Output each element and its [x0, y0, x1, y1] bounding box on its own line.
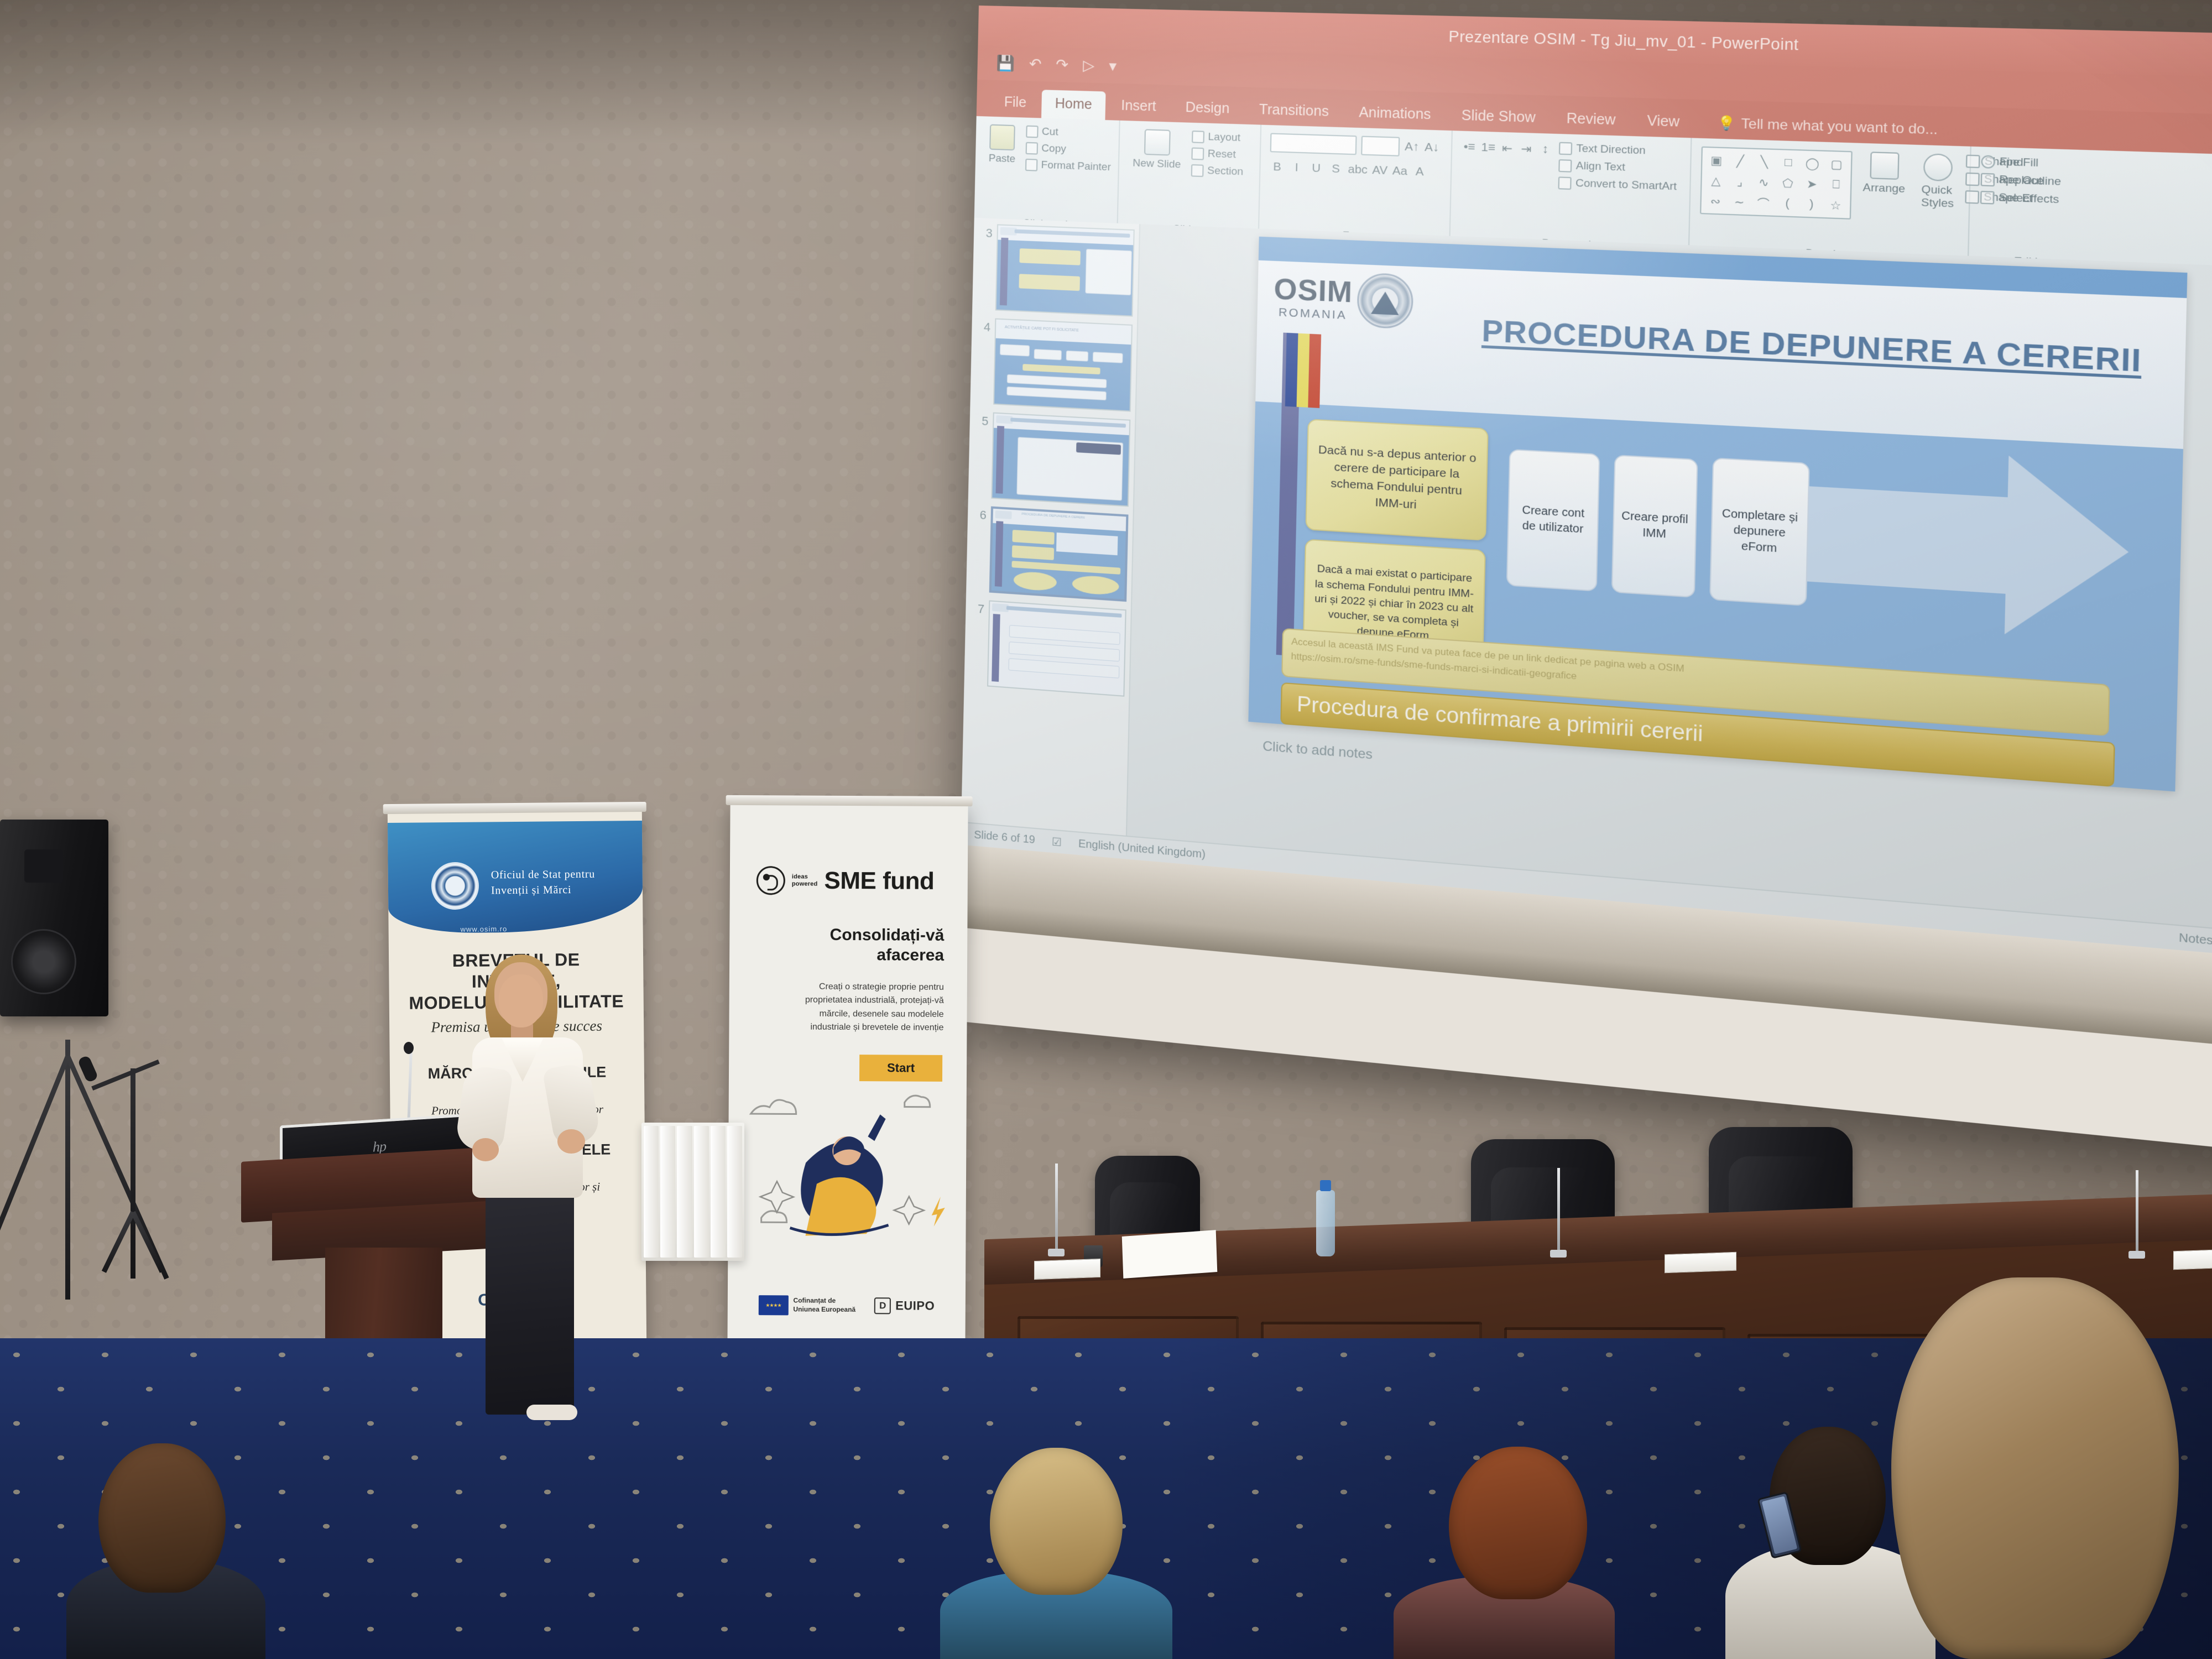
copy-button[interactable]: Copy: [1025, 142, 1112, 157]
eu-flag-icon: ★★★★: [758, 1295, 788, 1315]
presenter-left-hand: [472, 1138, 499, 1161]
microphone-boom-stand: [77, 1068, 216, 1328]
replace-icon: [1981, 173, 1995, 187]
osim-logo-text: OSIM: [1274, 274, 1353, 307]
powerpoint-window: Prezentare OSIM - Tg Jiu_mv_01 - PowerPo…: [961, 6, 2212, 961]
rectangle-shape-icon[interactable]: □: [1777, 154, 1799, 172]
paste-icon: [989, 124, 1015, 151]
ideas-word-line1: ideas: [792, 874, 818, 881]
step-box-3: Completare și depunere eForm: [1709, 457, 1810, 606]
rollup-top-rail: [383, 802, 646, 814]
panel-name-card-1: [1034, 1259, 1100, 1280]
select-label: Select: [1999, 191, 2032, 206]
paste-button[interactable]: Paste: [984, 124, 1021, 165]
panel-paper-1: [1122, 1230, 1218, 1279]
thumbnail-number: 6: [972, 505, 987, 523]
strikethrough-button[interactable]: abc: [1348, 161, 1368, 178]
osim-org-line1: Oficiul de Stat pentru: [491, 867, 595, 883]
slide-thumbnail-3[interactable]: [995, 224, 1135, 316]
change-case-button[interactable]: Aa: [1392, 163, 1407, 180]
notes-toggle[interactable]: Notes: [2179, 931, 2212, 948]
sme-fund-wordmark: SME fund: [824, 867, 934, 895]
sme-logo-row: ideas powered SME fund: [757, 866, 935, 896]
align-text-label: Align Text: [1576, 160, 1626, 174]
banner-shape-icon[interactable]: ⎕: [1825, 176, 1847, 194]
layout-label: Layout: [1208, 131, 1240, 144]
paste-label: Paste: [989, 153, 1016, 166]
layout-icon: [1192, 131, 1204, 143]
tab-view[interactable]: View: [1632, 107, 1695, 138]
slide-thumbnail-4[interactable]: ACTIVITĂȚILE CARE POT FI SOLICITATE: [993, 318, 1133, 411]
new-slide-icon: [1144, 129, 1171, 155]
eu-cofinance-line2: Uniunea Europeană: [793, 1305, 855, 1314]
thumbnail-number: 5: [974, 411, 988, 429]
speaker-woofer: [11, 929, 76, 994]
slide-thumbnail-5[interactable]: [991, 413, 1130, 507]
select-button[interactable]: Select: [1980, 191, 2043, 206]
shapes-gallery[interactable]: ▣ ╱ ╲ □ ◯ ▢ △ ⌟ ∿ ⬠ ➤ ⎕: [1700, 147, 1853, 220]
line-shape-icon[interactable]: ╱: [1730, 152, 1751, 170]
projection-surface: Prezentare OSIM - Tg Jiu_mv_01 - PowerPo…: [961, 6, 2212, 961]
audience-head-2: [990, 1448, 1123, 1595]
thumbnail-number: 7: [970, 599, 984, 617]
ideas-powered-for-business-icon: [757, 866, 785, 895]
panel-name-card-2: [1665, 1252, 1736, 1274]
speaker-tweeter: [24, 849, 63, 883]
section-button[interactable]: Section: [1191, 164, 1243, 179]
wall-radiator: [641, 1123, 744, 1261]
desk-microphone-1: [1055, 1164, 1058, 1252]
character-spacing-button[interactable]: AV: [1372, 163, 1387, 179]
cursor-icon: [1980, 191, 1995, 205]
step-text-1: Creare cont de utilizator: [1514, 502, 1593, 538]
thumbnail-row[interactable]: 3: [977, 223, 1135, 317]
cut-label: Cut: [1042, 126, 1058, 139]
tab-file[interactable]: File: [990, 88, 1040, 118]
eu-cofinance-line1: Cofinanțat de: [793, 1297, 855, 1306]
presenter-shoe: [526, 1405, 577, 1420]
text-direction-label: Text Direction: [1576, 143, 1646, 158]
elbow-shape-icon[interactable]: ⌟: [1729, 173, 1750, 191]
sme-hero-illustration: [728, 1070, 967, 1253]
euipo-wordmark: EUIPO: [895, 1298, 935, 1313]
star-shape-icon[interactable]: ☆: [1825, 196, 1846, 215]
arrow-shape-icon[interactable]: ╲: [1754, 153, 1775, 171]
current-slide[interactable]: OSIM ROMANIA PROCEDURA DE DEPUNERE A CER…: [1248, 237, 2187, 792]
section-label: Section: [1207, 165, 1244, 179]
redo-icon[interactable]: ↷: [1056, 56, 1068, 74]
replace-button[interactable]: Replace: [1981, 173, 2044, 188]
reset-button[interactable]: Reset: [1191, 148, 1244, 162]
paintbrush-icon: [1025, 159, 1037, 171]
triangle-shape-icon[interactable]: △: [1705, 171, 1726, 190]
slide-counter: Slide 6 of 19: [974, 828, 1035, 846]
osim-seal-icon: [1357, 272, 1413, 329]
align-text-icon: [1558, 159, 1572, 173]
window-title: Prezentare OSIM - Tg Jiu_mv_01 - PowerPo…: [1448, 28, 1799, 54]
osim-logo-country: ROMANIA: [1279, 306, 1347, 321]
conference-room-scene: Prezentare OSIM - Tg Jiu_mv_01 - PowerPo…: [0, 0, 2212, 1659]
replace-label: Replace: [1999, 174, 2044, 188]
tab-home[interactable]: Home: [1041, 90, 1105, 120]
quick-styles-label: Quick Styles: [1921, 184, 1954, 211]
slide-thumbnail-pane[interactable]: 3: [961, 218, 1140, 859]
customize-icon[interactable]: ▾: [1109, 58, 1117, 75]
process-arrow-icon: [1797, 445, 2131, 648]
arrange-button[interactable]: Arrange: [1858, 152, 1911, 196]
increase-indent-button[interactable]: ⇥: [1519, 140, 1535, 157]
lightbulb-icon: 💡: [1717, 114, 1736, 132]
pa-speaker: [0, 820, 108, 1016]
slide-thumbnail-7[interactable]: [987, 600, 1126, 696]
reset-label: Reset: [1208, 148, 1236, 161]
osim-website: www.osim.ro: [461, 925, 508, 933]
font-family-select[interactable]: [1270, 133, 1357, 155]
rollup-top-rail: [726, 795, 973, 806]
step-text-3: Completare și depunere eForm: [1717, 505, 1802, 558]
arc-shape-icon[interactable]: ⌒: [1752, 194, 1774, 212]
tab-design[interactable]: Design: [1172, 93, 1244, 124]
undo-icon[interactable]: ↶: [1029, 55, 1041, 73]
new-slide-label: New Slide: [1133, 157, 1181, 171]
thumbnail-number: 3: [978, 223, 993, 241]
sme-headline: Consolidați-vă afacerea: [801, 925, 944, 966]
find-label: Find: [2000, 156, 2023, 170]
water-bottle: [1316, 1190, 1335, 1256]
section-icon: [1191, 164, 1203, 177]
format-painter-button[interactable]: Format Painter: [1025, 159, 1112, 174]
projection-screen: Prezentare OSIM - Tg Jiu_mv_01 - PowerPo…: [957, 6, 2212, 1156]
romania-flag: [1285, 333, 1321, 408]
text-direction-icon: [1559, 142, 1572, 155]
podium-microphone-icon: [404, 1042, 414, 1054]
chevron-shape-icon[interactable]: ➤: [1801, 175, 1823, 193]
bullets-button[interactable]: •≡: [1462, 139, 1477, 155]
thumbnail-row[interactable]: 5: [973, 411, 1131, 507]
align-text-button[interactable]: Align Text: [1558, 159, 1677, 176]
quick-styles-button[interactable]: Quick Styles: [1916, 153, 1960, 211]
spellcheck-icon[interactable]: ☑: [1052, 834, 1062, 849]
sme-fund-rollup-banner: ideas powered SME fund Consolidați-vă af…: [727, 804, 968, 1347]
italic-button[interactable]: I: [1289, 160, 1305, 176]
desk-mic-base-3: [2128, 1251, 2145, 1259]
convert-smartart-button[interactable]: Convert to SmartArt: [1558, 176, 1677, 193]
tab-insert[interactable]: Insert: [1107, 92, 1170, 122]
pentagon-shape-icon[interactable]: ⬠: [1777, 174, 1799, 192]
font-size-select[interactable]: [1361, 136, 1400, 156]
tab-slide-show[interactable]: Slide Show: [1447, 101, 1550, 133]
reset-icon: [1191, 148, 1204, 160]
tab-animations[interactable]: Animations: [1345, 98, 1446, 131]
font-color-button[interactable]: A: [1412, 164, 1427, 180]
find-button[interactable]: Find: [1981, 155, 2044, 170]
step-box-1: Creare cont de utilizator: [1506, 449, 1600, 592]
audience-head-1: [98, 1443, 226, 1593]
callout-box-1: Dacă nu s-a depus anterior o cerere de p…: [1305, 419, 1488, 541]
sme-body-text: Creați o strategie proprie pentru propri…: [789, 980, 944, 1035]
sme-banner-footer: ★★★★ Cofinanțat de Uniunea Europeană D E…: [728, 1295, 966, 1316]
desk-mic-base-1: [1048, 1249, 1065, 1256]
bold-button[interactable]: B: [1270, 159, 1285, 175]
presenter-trousers: [486, 1187, 574, 1415]
osim-banner-header: Oficiul de Stat pentru Invenții și Mărci…: [388, 821, 643, 933]
presenter-face: [499, 974, 543, 1027]
search-icon: [1981, 155, 1995, 168]
rounded-rect-shape-icon[interactable]: ▢: [1826, 155, 1848, 173]
step-box-2: Creare profil IMM: [1611, 455, 1698, 598]
thumbnail-row[interactable]: 4 ACTIVITĂȚILE CARE POT FI SOLICITATE: [974, 317, 1133, 412]
smartart-icon: [1558, 176, 1571, 190]
ribbon-group-editing: Find Replace Select: [1969, 147, 2099, 275]
scissors-icon: [1026, 126, 1038, 138]
increase-font-size-button[interactable]: A↑: [1404, 139, 1420, 155]
thumbnail-row[interactable]: 7: [968, 599, 1126, 697]
convert-smartart-label: Convert to SmartArt: [1575, 177, 1677, 193]
copy-label: Copy: [1041, 143, 1066, 156]
underline-button[interactable]: U: [1308, 160, 1324, 177]
presenter-right-hand: [557, 1129, 585, 1154]
format-painter-label: Format Painter: [1041, 159, 1111, 174]
brace-left-icon[interactable]: (: [1777, 195, 1798, 213]
audience-head-3: [1449, 1447, 1587, 1599]
step-text-2: Creare profil IMM: [1619, 508, 1691, 544]
text-direction-button[interactable]: Text Direction: [1559, 142, 1678, 159]
present-icon[interactable]: ▷: [1083, 56, 1095, 74]
osim-org-line2: Invenții și Mărci: [491, 882, 595, 899]
shadow-button[interactable]: S: [1328, 161, 1344, 178]
decrease-indent-button[interactable]: ⇤: [1499, 140, 1515, 156]
ideas-word-line2: powered: [792, 880, 818, 888]
scribble-shape-icon[interactable]: ∼: [1729, 193, 1750, 211]
arrange-icon: [1870, 152, 1899, 180]
notes-placeholder: Click to add notes: [1262, 739, 1373, 763]
desk-microphone-3: [2136, 1170, 2138, 1253]
oval-shape-icon[interactable]: ◯: [1802, 154, 1823, 173]
thumbnail-row[interactable]: 6 PROCEDURA DE DEPUNERE A CERERII: [971, 505, 1128, 602]
cut-button[interactable]: Cut: [1026, 126, 1112, 140]
tab-transitions[interactable]: Transitions: [1245, 96, 1343, 127]
layout-button[interactable]: Layout: [1192, 131, 1244, 144]
panel-name-card-3: [2173, 1249, 2212, 1270]
brace-right-icon[interactable]: ): [1801, 195, 1822, 213]
freeform-shape-icon[interactable]: ∾: [1705, 192, 1726, 210]
new-slide-button[interactable]: New Slide: [1128, 129, 1186, 171]
tell-me-label: Tell me what you want to do...: [1741, 116, 1938, 138]
slide-thumbnail-6[interactable]: PROCEDURA DE DEPUNERE A CERERII: [989, 507, 1129, 602]
desk-microphone-2: [1557, 1168, 1560, 1252]
government-seal-icon: [431, 862, 479, 910]
euipo-mark-icon: D: [874, 1297, 891, 1314]
save-icon[interactable]: 💾: [996, 54, 1015, 72]
copy-icon: [1025, 142, 1037, 155]
textbox-shape-icon[interactable]: ▣: [1706, 151, 1727, 169]
quick-styles-icon: [1923, 153, 1953, 181]
audience-head-5: [1891, 1277, 2179, 1659]
thumbnail-number: 4: [976, 317, 990, 335]
line-spacing-button[interactable]: ↕: [1537, 141, 1553, 158]
arrange-label: Arrange: [1863, 181, 1905, 196]
osim-logo: OSIM ROMANIA: [1273, 269, 1413, 330]
decrease-font-size-button[interactable]: A↓: [1424, 139, 1439, 156]
callout-text-1: Dacă nu s-a depus anterior o cerere de p…: [1315, 442, 1479, 517]
curve-shape-icon[interactable]: ∿: [1753, 173, 1775, 191]
numbering-button[interactable]: 1≡: [1480, 139, 1496, 156]
tab-review[interactable]: Review: [1552, 104, 1630, 136]
desk-mic-base-2: [1550, 1250, 1567, 1258]
